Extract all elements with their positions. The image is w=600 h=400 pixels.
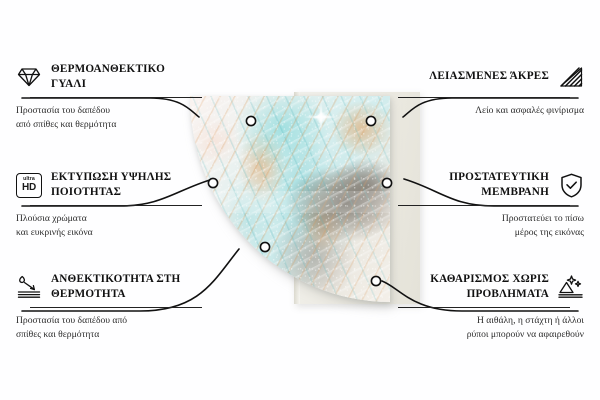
feature-heat-resistant-glass[interactable]: ΘΕΡΜΟΑΝΘΕΚΤΙΚΟ ΓΥΑΛΙ Προστασία του δαπέδ… — [16, 62, 202, 131]
feature-title: ΘΕΡΜΟΑΝΘΕΚΤΙΚΟ ΓΥΑΛΙ — [51, 62, 202, 92]
feature-divider — [30, 307, 202, 308]
feature-description: Πλούσια χρώματα και ευκρινής εικόνα — [16, 212, 202, 239]
feature-desc-line-2: από σπίθες και θερμότητα — [16, 118, 202, 132]
feature-desc-line-1: Προστασία του δαπέδου — [16, 104, 202, 118]
feature-title: ΑΝΘΕΚΤΙΚΟΤΗΤΑ ΣΤΗ ΘΕΡΜΟΤΗΤΑ — [51, 272, 202, 302]
feature-desc-line-1: Η αιθάλη, η στάχτη ή άλλοι — [398, 314, 584, 328]
feature-desc-line-1: Προστατεύει το πίσω — [398, 212, 584, 226]
easy-clean-sparkle-icon — [558, 274, 584, 300]
feature-divider — [30, 205, 202, 206]
feature-header: ΑΝΘΕΚΤΙΚΟΤΗΤΑ ΣΤΗ ΘΕΡΜΟΤΗΤΑ — [16, 272, 202, 302]
feature-title: ΠΡΟΣΤΑΤΕΥΤΙΚΗ ΜΕΜΒΡΑΝΗ — [398, 170, 549, 200]
feature-description: Η αιθάλη, η στάχτη ή άλλοι ρύποι μπορούν… — [398, 314, 584, 341]
feature-desc-line-1: Πλούσια χρώματα — [16, 212, 202, 226]
diamond-icon — [16, 64, 42, 90]
feature-title: ΚΑΘΑΡΙΣΜΟΣ ΧΩΡΙΣ ΠΡΟΒΛΗΜΑΤΑ — [398, 272, 549, 302]
feature-description: Προστατεύει το πίσω μέρος της εικόνας — [398, 212, 584, 239]
feature-description: Προστασία του δαπέδου από σπίθες και θερ… — [16, 104, 202, 131]
feature-desc-line-1: Λείο και ασφαλές φινίρισμα — [398, 104, 584, 118]
feature-high-quality-print[interactable]: ultra HD ΕΚΤΥΠΩΣΗ ΥΨΗΛΗΣ ΠΟΙΟΤΗΤΑΣ Πλούσ… — [16, 170, 202, 239]
shield-check-icon — [558, 172, 584, 198]
feature-title: ΛΕΙΑΣΜΕΝΕΣ ΆΚΡΕΣ — [398, 69, 549, 84]
feature-desc-line-2: σπίθες και θερμότητα — [16, 328, 202, 342]
hd-badge-large: HD — [22, 183, 36, 193]
feature-divider — [398, 205, 570, 206]
feature-divider — [398, 307, 570, 308]
ultra-hd-icon: ultra HD — [16, 172, 42, 198]
feature-header: ΛΕΙΑΣΜΕΝΕΣ ΆΚΡΕΣ — [398, 62, 584, 92]
feature-heat-resistance[interactable]: ΑΝΘΕΚΤΙΚΟΤΗΤΑ ΣΤΗ ΘΕΡΜΟΤΗΤΑ Προστασία το… — [16, 272, 202, 341]
feature-desc-line-2: και ευκρινής εικόνα — [16, 226, 202, 240]
polished-edges-icon — [558, 64, 584, 90]
feature-desc-line-2: ρύποι μπορούν να αφαιρεθούν — [398, 328, 584, 342]
feature-desc-line-2: μέρος της εικόνας — [398, 226, 584, 240]
glass-sheen — [190, 96, 390, 302]
feature-polished-edges[interactable]: ΛΕΙΑΣΜΕΝΕΣ ΆΚΡΕΣ Λείο και ασφαλές φινίρι… — [398, 62, 584, 118]
feature-header: ΘΕΡΜΟΑΝΘΕΚΤΙΚΟ ΓΥΑΛΙ — [16, 62, 202, 92]
feature-header: ΚΑΘΑΡΙΣΜΟΣ ΧΩΡΙΣ ΠΡΟΒΛΗΜΑΤΑ — [398, 272, 584, 302]
feature-header: ΠΡΟΣΤΑΤΕΥΤΙΚΗ ΜΕΜΒΡΑΝΗ — [398, 170, 584, 200]
feature-desc-line-1: Προστασία του δαπέδου από — [16, 314, 202, 328]
feature-title: ΕΚΤΥΠΩΣΗ ΥΨΗΛΗΣ ΠΟΙΟΤΗΤΑΣ — [51, 170, 202, 200]
product-image — [178, 88, 428, 328]
feature-protective-film[interactable]: ΠΡΟΣΤΑΤΕΥΤΙΚΗ ΜΕΜΒΡΑΝΗ Προστατεύει το πί… — [398, 170, 584, 239]
feature-easy-cleaning[interactable]: ΚΑΘΑΡΙΣΜΟΣ ΧΩΡΙΣ ΠΡΟΒΛΗΜΑΤΑ Η αιθάλη, η … — [398, 272, 584, 341]
heat-resistance-icon — [16, 274, 42, 300]
feature-header: ultra HD ΕΚΤΥΠΩΣΗ ΥΨΗΛΗΣ ΠΟΙΟΤΗΤΑΣ — [16, 170, 202, 200]
glass-panel — [190, 96, 390, 302]
feature-description: Προστασία του δαπέδου από σπίθες και θερ… — [16, 314, 202, 341]
infographic-canvas: ΘΕΡΜΟΑΝΘΕΚΤΙΚΟ ΓΥΑΛΙ Προστασία του δαπέδ… — [0, 0, 600, 400]
feature-divider — [398, 97, 570, 98]
feature-divider — [30, 97, 202, 98]
feature-description: Λείο και ασφαλές φινίρισμα — [398, 104, 584, 118]
